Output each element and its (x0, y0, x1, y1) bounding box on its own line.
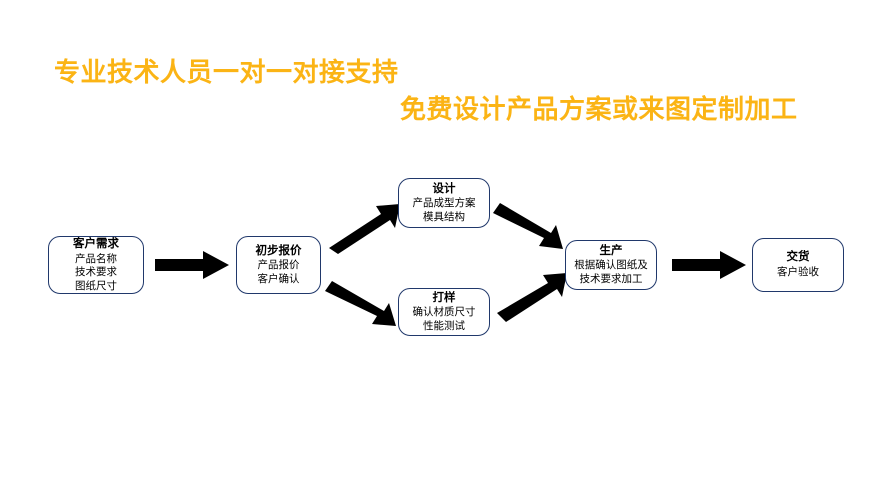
arrow-design-to-produce-icon (493, 203, 563, 249)
flow-node-production[interactable]: 生产 根据确认图纸及 技术要求加工 (565, 240, 657, 290)
flow-node-detail: 产品成型方案 (413, 197, 476, 210)
arrow-quote-to-sample-icon (325, 281, 396, 326)
arrow-demand-to-quote-icon (155, 251, 229, 279)
flow-node-title: 交货 (787, 250, 810, 265)
arrow-sample-to-produce-icon (497, 273, 567, 322)
flow-node-title: 生产 (600, 244, 623, 259)
flow-node-customer-demand[interactable]: 客户需求 产品名称 技术要求 图纸尺寸 (48, 236, 144, 294)
flow-node-title: 打样 (433, 291, 456, 306)
arrow-produce-to-delivery-icon (672, 251, 746, 279)
flow-node-detail: 客户确认 (258, 273, 300, 286)
flow-node-detail: 根据确认图纸及 (574, 259, 648, 272)
flow-node-sampling[interactable]: 打样 确认材质尺寸 性能测试 (398, 288, 490, 336)
flow-node-detail: 确认材质尺寸 (413, 306, 476, 319)
flow-node-initial-quote[interactable]: 初步报价 产品报价 客户确认 (236, 236, 321, 294)
flow-node-detail: 客户验收 (777, 266, 819, 279)
flow-node-detail: 性能测试 (423, 320, 465, 333)
headline-primary: 专业技术人员一对一对接支持 (54, 52, 399, 89)
flow-node-title: 客户需求 (73, 237, 119, 252)
flow-node-detail: 图纸尺寸 (75, 280, 117, 293)
flow-node-title: 设计 (433, 182, 456, 197)
flow-node-detail: 模具结构 (423, 211, 465, 224)
headline-secondary: 免费设计产品方案或来图定制加工 (400, 89, 798, 126)
arrow-quote-to-design-icon (329, 204, 400, 254)
flow-node-design[interactable]: 设计 产品成型方案 模具结构 (398, 178, 490, 228)
flow-node-title: 初步报价 (256, 244, 302, 259)
flow-node-detail: 技术要求 (75, 266, 117, 279)
slide-canvas: 专业技术人员一对一对接支持 免费设计产品方案或来图定制加工 客户需求 产品名称 … (0, 0, 892, 499)
flow-node-detail: 技术要求加工 (580, 273, 643, 286)
flow-node-detail: 产品名称 (75, 253, 117, 266)
flow-node-detail: 产品报价 (258, 259, 300, 272)
flow-node-delivery[interactable]: 交货 客户验收 (752, 238, 844, 292)
